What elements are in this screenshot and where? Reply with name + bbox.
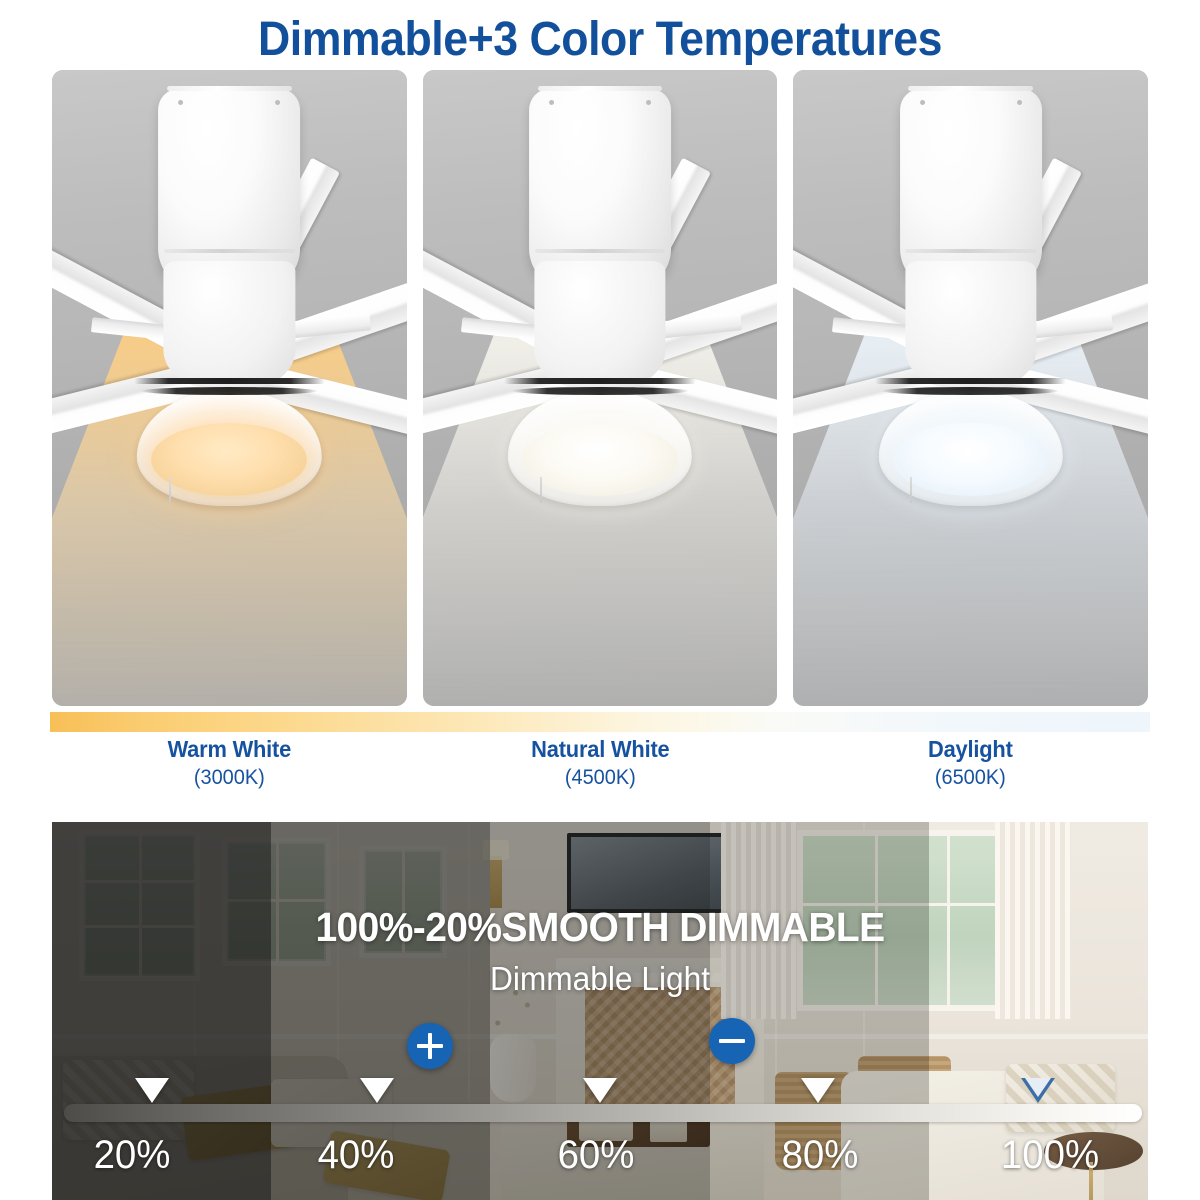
brightness-decrease-button[interactable] [709,1018,755,1064]
color-temperature-label-row: Warm White (3000K) Natural White (4500K)… [52,736,1148,808]
brightness-slider-track[interactable] [64,1104,1142,1122]
color-temperature-card-warm-white[interactable] [52,70,407,706]
dimming-pointer-60[interactable] [583,1078,617,1103]
led-diffuser [522,423,678,496]
fan-motor-housing [164,261,295,388]
color-temperature-card-natural-white[interactable] [423,70,778,706]
fan-motor-housing [534,261,665,388]
minus-icon [719,1039,745,1043]
dimming-pointer-80[interactable] [801,1078,835,1103]
brightness-increase-button[interactable] [407,1023,453,1069]
ceiling-fan-icon [793,70,1148,706]
color-temperature-card-daylight[interactable] [793,70,1148,706]
ct-kelvin: (6500K) [802,766,1139,790]
dimming-label-20: 20% [74,1133,189,1178]
ct-kelvin: (3000K) [61,766,398,790]
ceiling-fan-icon [52,70,407,706]
plus-icon-vertical [428,1033,432,1059]
dimming-label-80: 80% [762,1133,877,1178]
ct-label-daylight: Daylight (6500K) [793,736,1148,808]
dimming-label-60: 60% [538,1133,653,1178]
fan-seam [504,378,696,384]
color-temperature-panel-row [52,70,1148,706]
ct-label-natural-white: Natural White (4500K) [423,736,778,808]
dimming-pointer-40[interactable] [360,1078,394,1103]
dimming-label-100: 100% [983,1133,1117,1178]
ct-kelvin: (4500K) [432,766,769,790]
led-diffuser [151,423,307,496]
ct-name: Warm White [61,736,398,763]
ct-label-warm-white: Warm White (3000K) [52,736,407,808]
pull-chain [910,477,912,503]
ct-name: Natural White [432,736,769,763]
pull-chain [540,477,542,503]
dimming-label-40: 40% [298,1133,413,1178]
page-title: Dimmable+3 Color Temperatures [42,12,1158,67]
fan-seam [134,378,326,384]
dimming-title: 100%-20%SMOOTH DIMMABLE [79,904,1120,951]
warm-to-cool-gradient-bar [50,712,1150,732]
ct-name: Daylight [802,736,1139,763]
dimming-pointer-100[interactable] [1021,1078,1055,1103]
pull-chain [169,477,171,503]
fan-motor-housing [905,261,1036,388]
fan-seam [875,378,1067,384]
dimming-pointer-20[interactable] [135,1078,169,1103]
led-diffuser [893,423,1049,496]
dimming-subtitle: Dimmable Light [74,960,1126,998]
ceiling-fan-icon [423,70,778,706]
